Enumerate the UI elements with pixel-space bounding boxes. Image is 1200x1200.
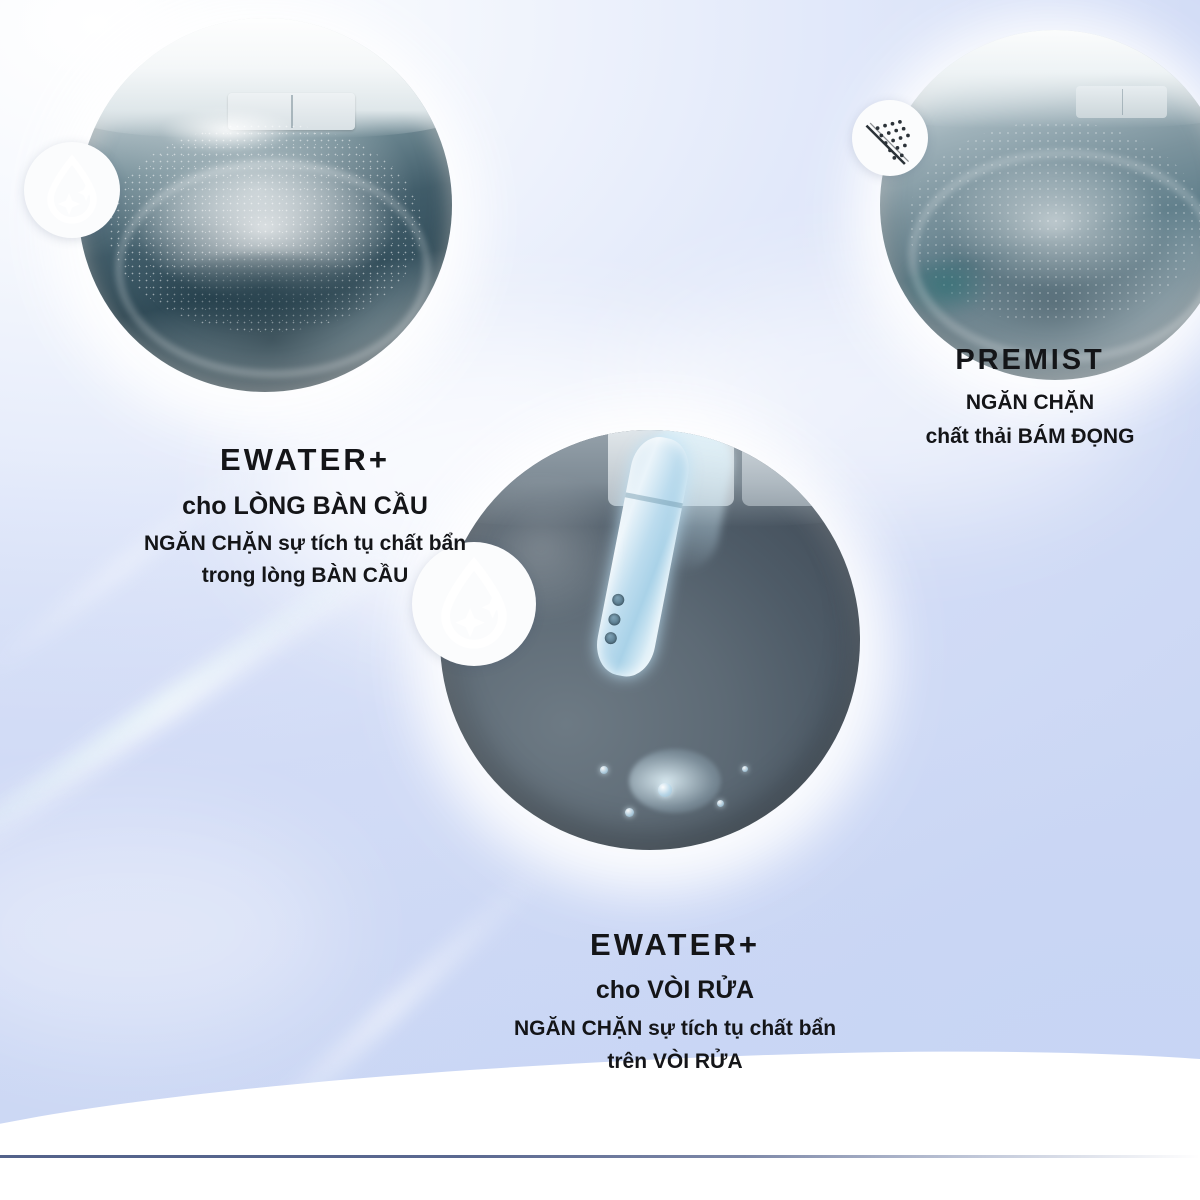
water-droplet bbox=[600, 766, 608, 774]
feature-text-ewater-bowl: EWATER+ cho LÒNG BÀN CẦU NGĂN CHẶN sự tí… bbox=[30, 440, 580, 589]
bidet-panel-right bbox=[742, 438, 834, 505]
feature-description-line1: chất thải BÁM ĐỌNG bbox=[860, 424, 1200, 451]
feature-description-line1: NGĂN CHẶN sự tích tụ chất bẩn bbox=[400, 1016, 950, 1043]
feature-subtitle: NGĂN CHẶN bbox=[860, 390, 1200, 417]
water-droplet-sparkle-icon bbox=[24, 142, 120, 238]
bowl-inner-ring bbox=[115, 160, 430, 378]
bowl-inner-ring bbox=[908, 149, 1200, 363]
feature-description-line1: NGĂN CHẶN sự tích tụ chất bẩn bbox=[30, 531, 580, 558]
wand-band bbox=[625, 492, 683, 508]
feature-subtitle: cho VÒI RỬA bbox=[400, 974, 950, 1006]
footer-divider-line bbox=[0, 1155, 1200, 1158]
feature-title: EWATER+ bbox=[400, 925, 950, 965]
bowl-buttons bbox=[1076, 86, 1167, 118]
feature-title: PREMIST bbox=[860, 342, 1200, 379]
feature-description-line2: trên VÒI RỬA bbox=[400, 1049, 950, 1076]
poster-canvas: EWATER+ cho LÒNG BÀN CẦU NGĂN CHẶN sự tí… bbox=[0, 0, 1200, 1200]
water-droplet bbox=[742, 766, 748, 772]
wand-nozzle-hole bbox=[612, 593, 626, 607]
wand-nozzle-hole bbox=[604, 631, 618, 645]
wand-nozzle-hole bbox=[608, 612, 622, 626]
feature-text-premist: PREMIST NGĂN CHẶN chất thải BÁM ĐỌNG bbox=[860, 342, 1200, 451]
water-droplet bbox=[625, 808, 634, 817]
feature-description-line2: trong lòng BÀN CẦU bbox=[30, 563, 580, 590]
feature-title: EWATER+ bbox=[30, 440, 580, 480]
bowl-specular-highlight bbox=[160, 108, 295, 153]
toilet-bowl-mist-photo bbox=[78, 18, 452, 392]
water-droplet bbox=[717, 800, 724, 807]
feature-text-ewater-wand: EWATER+ cho VÒI RỬA NGĂN CHẶN sự tích tụ… bbox=[400, 925, 950, 1075]
feature-subtitle: cho LÒNG BÀN CẦU bbox=[30, 490, 580, 522]
water-splash bbox=[629, 749, 721, 813]
spray-nozzle-mist-icon bbox=[852, 100, 928, 176]
